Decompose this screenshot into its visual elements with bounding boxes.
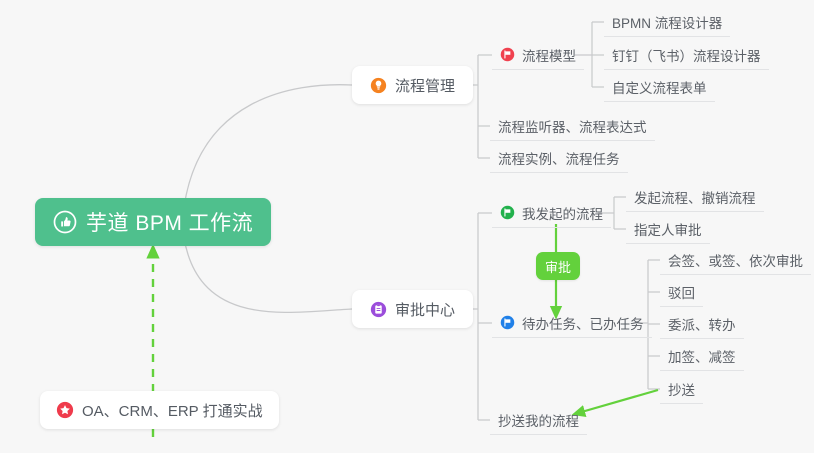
arrow-cc-flow (578, 390, 658, 413)
node-label: 抄送 (668, 379, 695, 399)
lightbulb-icon (370, 77, 387, 94)
node-label: 加签、减签 (668, 346, 736, 366)
link-root-to-approval-center (184, 238, 352, 312)
node-custom-form[interactable]: 自定义流程表单 (604, 72, 715, 102)
branch-label: 审批中心 (395, 299, 455, 320)
node-label: 待办任务、已办任务 (522, 313, 644, 333)
node-label: 指定人审批 (634, 219, 702, 239)
node-bpmn-designer[interactable]: BPMN 流程设计器 (604, 7, 730, 37)
node-label: 发起流程、撤销流程 (634, 187, 756, 207)
node-delegate-transfer[interactable]: 委派、转办 (660, 309, 744, 339)
footnote-label: OA、CRM、ERP 打通实战 (82, 400, 263, 421)
footnote-node[interactable]: OA、CRM、ERP 打通实战 (40, 391, 279, 429)
node-start-cancel-process[interactable]: 发起流程、撤销流程 (626, 182, 764, 212)
flag-green-icon (500, 205, 515, 220)
badge-label: 审批 (545, 257, 571, 276)
node-label: 流程监听器、流程表达式 (498, 116, 647, 136)
flag-blue-icon (500, 315, 515, 330)
mindmap-canvas: 芋道 BPM 工作流 流程管理 流程模型 BPMN 流程设计器 钉钉（飞书）流程 (0, 0, 814, 453)
node-process-listener[interactable]: 流程监听器、流程表达式 (490, 111, 655, 141)
star-icon (56, 401, 74, 419)
node-label: 驳回 (668, 282, 695, 302)
node-todo-done-tasks[interactable]: 待办任务、已办任务 (492, 308, 652, 338)
branch-process-management[interactable]: 流程管理 (352, 66, 473, 104)
node-carbon-copy[interactable]: 抄送 (660, 374, 703, 404)
node-label: 抄送我的流程 (498, 410, 579, 430)
node-label: 自定义流程表单 (612, 77, 707, 97)
root-label: 芋道 BPM 工作流 (86, 207, 253, 237)
node-label: BPMN 流程设计器 (612, 12, 722, 32)
branch-approval-center[interactable]: 审批中心 (352, 290, 473, 328)
branch-label: 流程管理 (395, 75, 455, 96)
node-reject[interactable]: 驳回 (660, 277, 703, 307)
node-label: 委派、转办 (668, 314, 736, 334)
node-assignee-approval[interactable]: 指定人审批 (626, 214, 710, 244)
node-label: 流程实例、流程任务 (498, 148, 620, 168)
root-node[interactable]: 芋道 BPM 工作流 (35, 198, 271, 246)
node-label: 流程模型 (522, 45, 576, 65)
thumbs-up-icon (53, 210, 77, 234)
node-dingtalk-designer[interactable]: 钉钉（飞书）流程设计器 (604, 40, 769, 70)
node-label: 我发起的流程 (522, 203, 603, 223)
clipboard-icon (370, 301, 387, 318)
flag-red-icon (500, 47, 515, 62)
link-root-to-process-management (184, 85, 352, 207)
approve-badge: 审批 (536, 252, 580, 280)
node-my-initiated[interactable]: 我发起的流程 (492, 198, 611, 228)
node-process-model[interactable]: 流程模型 (492, 40, 584, 70)
node-label: 会签、或签、依次审批 (668, 250, 803, 270)
node-cc-to-me[interactable]: 抄送我的流程 (490, 405, 587, 435)
node-add-remove-sign[interactable]: 加签、减签 (660, 341, 744, 371)
node-label: 钉钉（飞书）流程设计器 (612, 45, 761, 65)
node-countersign[interactable]: 会签、或签、依次审批 (660, 245, 811, 275)
node-process-instance[interactable]: 流程实例、流程任务 (490, 143, 628, 173)
